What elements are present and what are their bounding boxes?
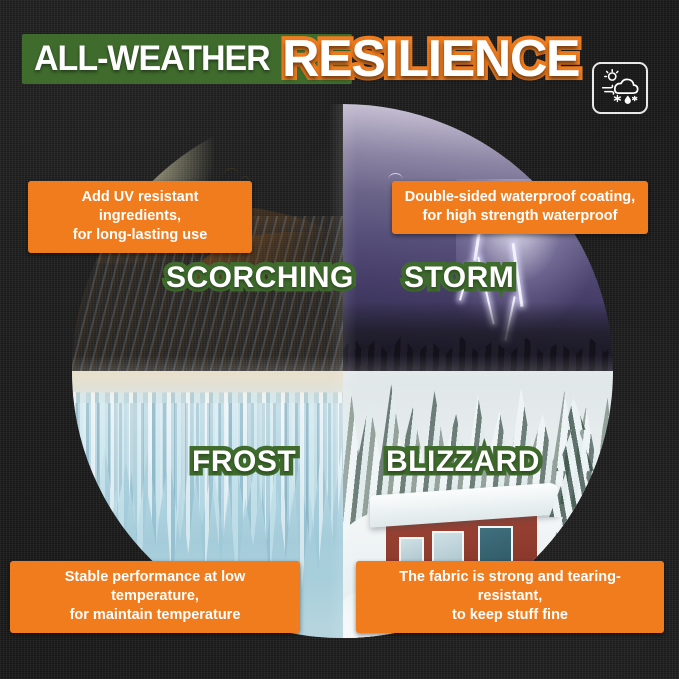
badge-storm: STORM xyxy=(404,263,514,293)
page-title-primary: ALL-WEATHER xyxy=(34,40,270,78)
all-weather-icon-box xyxy=(592,62,648,114)
callout-blizzard: The fabric is strong and tearing-resista… xyxy=(356,561,664,633)
callout-storm: Double-sided waterproof coating, for hig… xyxy=(392,181,648,234)
badge-blizzard: BLIZZARD xyxy=(386,447,540,477)
storm-treeline xyxy=(343,302,614,371)
all-weather-icon xyxy=(599,67,641,110)
page-title-secondary: RESILIENCE xyxy=(282,30,579,88)
badge-frost: FROST xyxy=(192,447,296,477)
callout-scorching: Add UV resistant ingredients, for long-l… xyxy=(28,181,252,253)
bird-icon xyxy=(388,173,403,180)
quadrant-storm xyxy=(343,104,614,371)
badge-scorching: SCORCHING xyxy=(166,263,354,293)
bird-icon xyxy=(223,167,240,177)
header-banner: ALL-WEATHER RESILIENCE xyxy=(0,26,679,96)
callout-frost: Stable performance at low temperature, f… xyxy=(10,561,300,633)
